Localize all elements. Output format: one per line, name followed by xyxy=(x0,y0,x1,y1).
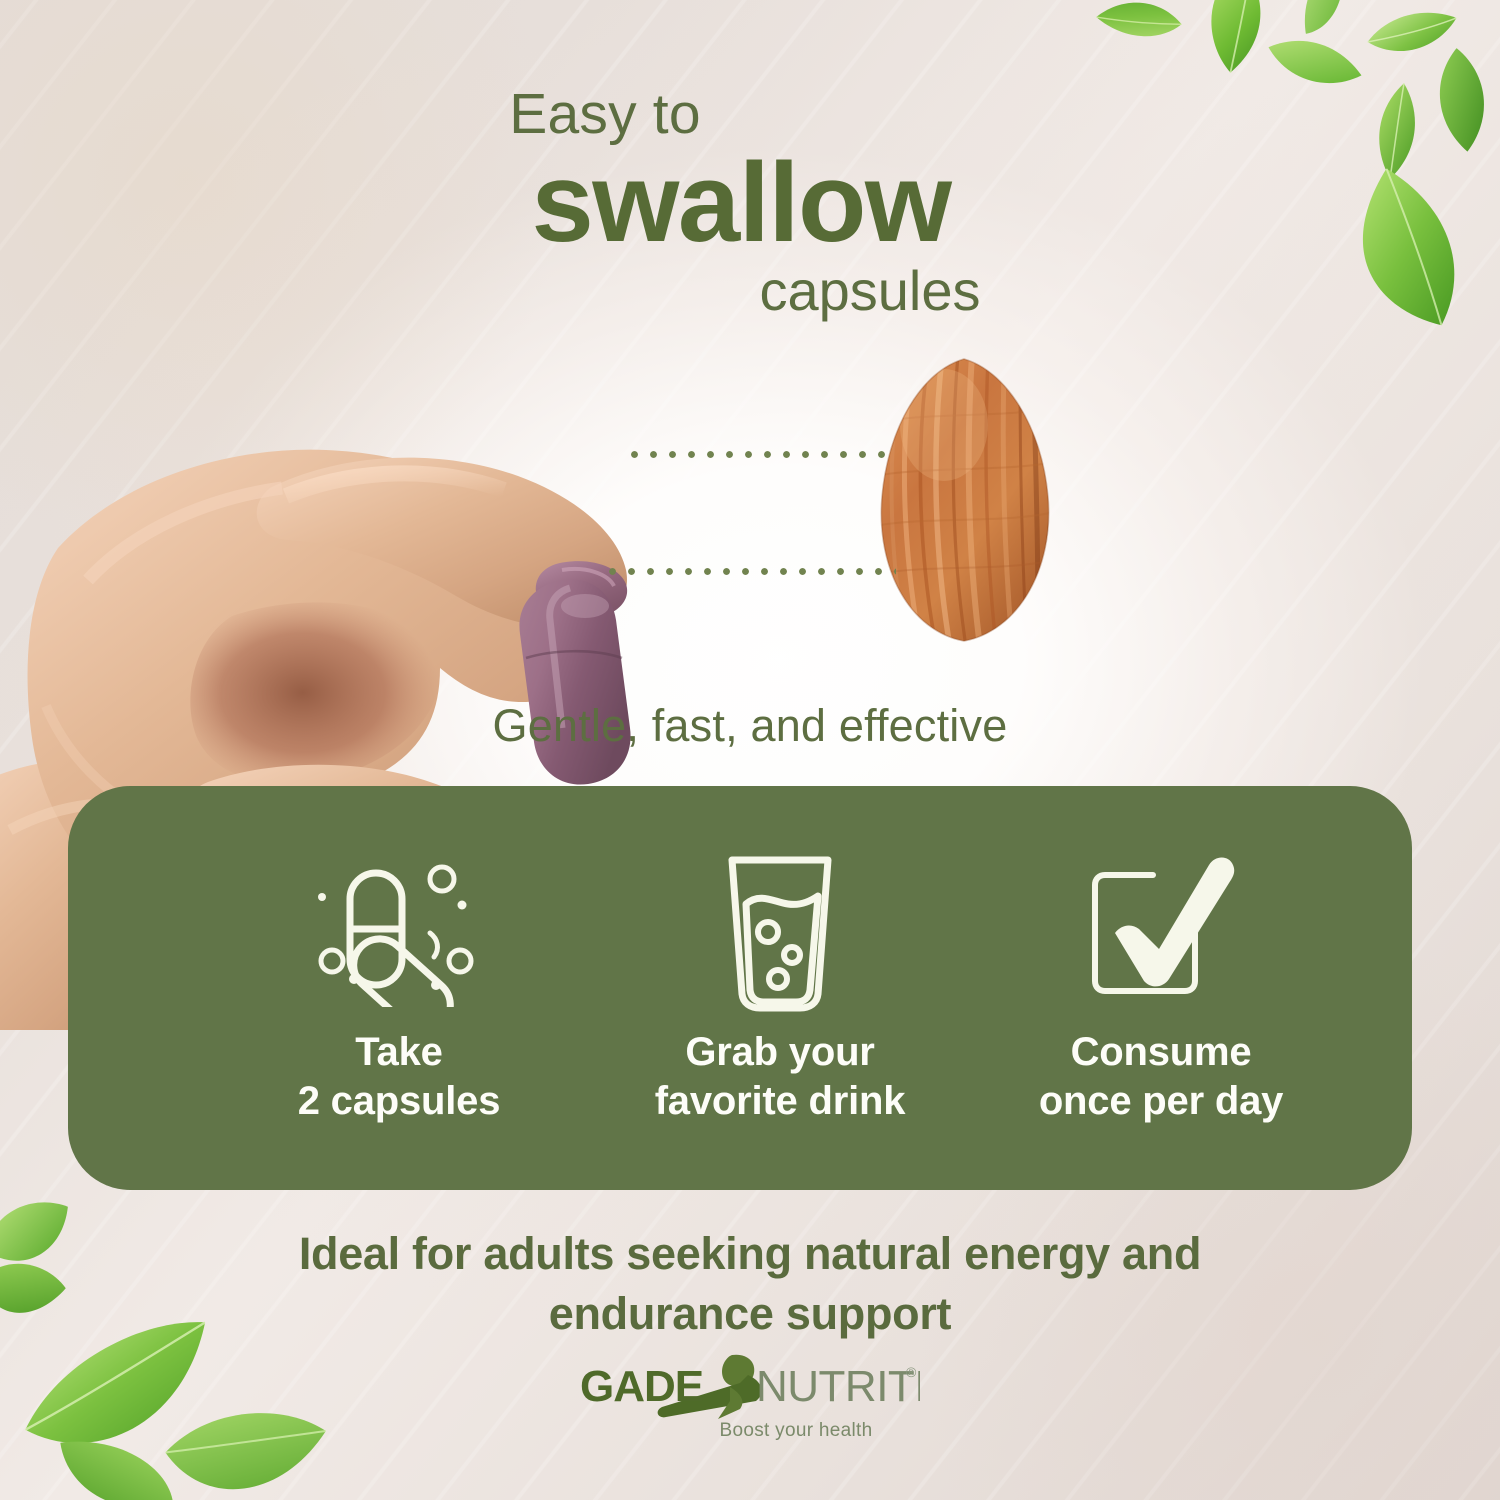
step-label: Consume once per day xyxy=(1039,1028,1283,1126)
step-label-line-1: Consume xyxy=(1071,1030,1252,1074)
brand-tagline: Boost your health xyxy=(720,1420,873,1442)
brand-name-light: NUTRITION xyxy=(756,1362,920,1411)
step-label-line-2: favorite drink xyxy=(655,1079,906,1123)
drinking-glass-icon xyxy=(716,848,844,1016)
checkbox-check-icon xyxy=(1081,848,1241,1016)
two-capsules-icon xyxy=(314,848,484,1016)
step-label-line-1: Take xyxy=(355,1030,442,1074)
step-label-line-2: once per day xyxy=(1039,1079,1283,1123)
step-grab-favorite-drink: Grab your favorite drink xyxy=(625,848,935,1126)
footer-copy-line-2: endurance support xyxy=(549,1288,951,1339)
footer-copy-line-1: Ideal for adults seeking natural energy … xyxy=(299,1228,1201,1279)
brand-logo: GADE NUTRITION ® Boost your health xyxy=(0,1353,1500,1442)
steps-panel: Take 2 capsules xyxy=(68,786,1412,1190)
brand-name-bold: GADE xyxy=(580,1362,703,1411)
brand-wordmark: GADE NUTRITION ® xyxy=(580,1353,920,1419)
step-label-line-1: Grab your xyxy=(685,1030,874,1074)
leaf-icon xyxy=(1423,45,1500,155)
step-take-2-capsules: Take 2 capsules xyxy=(244,848,554,1126)
tagline: Gentle, fast, and effective xyxy=(0,700,1500,752)
almond-size-reference xyxy=(872,355,1057,645)
dotted-size-comparison-line-top xyxy=(630,450,892,459)
brand-registered-mark: ® xyxy=(906,1364,917,1380)
step-label: Grab your favorite drink xyxy=(655,1028,906,1126)
step-consume-once-per-day: Consume once per day xyxy=(1006,848,1316,1126)
step-label: Take 2 capsules xyxy=(298,1028,501,1126)
step-label-line-2: 2 capsules xyxy=(298,1079,501,1123)
dotted-size-comparison-line-bottom xyxy=(608,567,896,576)
footer-copy: Ideal for adults seeking natural energy … xyxy=(0,1224,1500,1344)
leaf-icon xyxy=(1323,163,1476,333)
product-infographic: Easy to swallow capsules xyxy=(0,0,1500,1500)
